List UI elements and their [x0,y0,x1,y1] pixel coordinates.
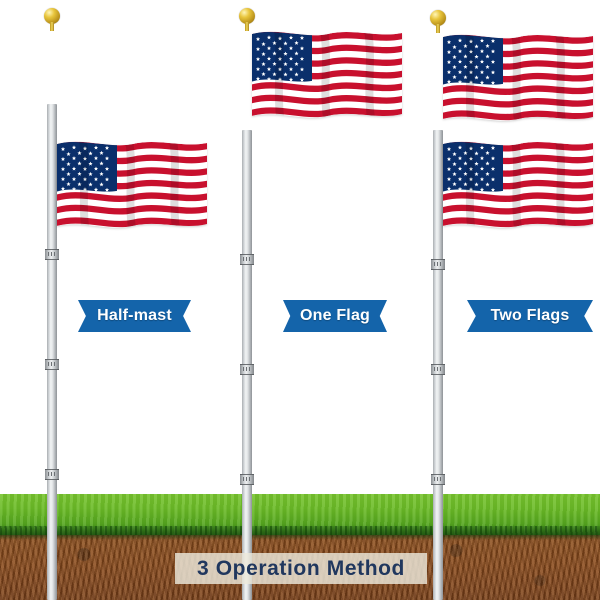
pole-half-mast [47,104,57,600]
gold-ball-finial [430,10,446,26]
caption-band: 3 Operation Method [175,553,427,584]
pole-one-flag [242,130,252,600]
caption-text: 3 Operation Method [197,557,405,581]
usa-flag [443,33,593,128]
banner-one-flag: One Flag [283,300,387,332]
pole-two-flags [433,130,443,600]
banner-two-flags: Two Flags [467,300,593,332]
gold-ball-finial [239,8,255,24]
gold-ball-finial [44,8,60,24]
usa-flag [252,30,402,125]
banner-label: One Flag [300,307,370,325]
banner-label: Half-mast [97,307,172,325]
usa-flag [57,140,207,235]
banner-label: Two Flags [491,307,570,325]
banner-half-mast: Half-mast [78,300,191,332]
grass-ground [0,494,600,535]
usa-flag [443,140,593,235]
product-infographic: Half-mast [0,0,600,600]
